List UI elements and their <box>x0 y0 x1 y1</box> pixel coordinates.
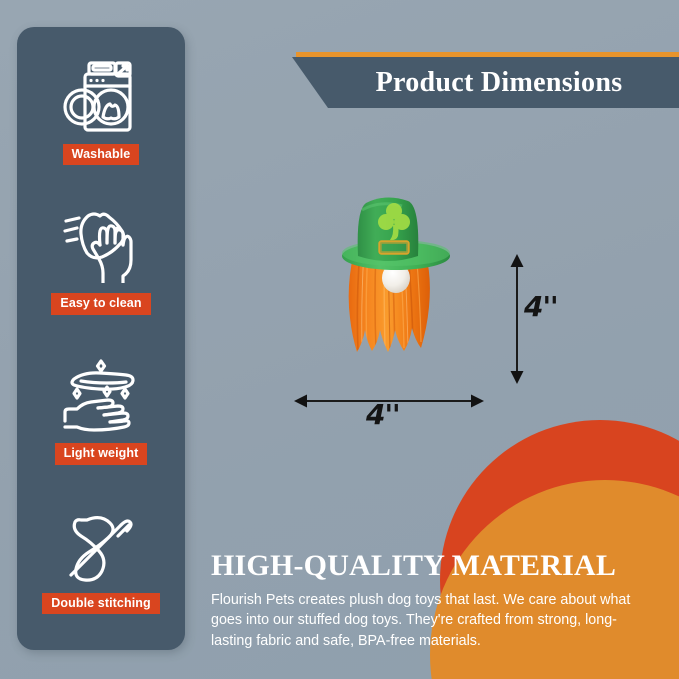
feature-badge-easy-to-clean: Easy to clean <box>51 293 150 315</box>
needle-and-thread-icon <box>62 508 140 584</box>
feather-on-hand-icon <box>62 358 140 434</box>
feature-badge-washable: Washable <box>63 144 140 166</box>
infographic-canvas: Washable Easy to clean <box>0 0 679 679</box>
hand-wiping-cloth-icon <box>62 208 140 284</box>
footer-heading: HIGH-QUALITY MATERIAL <box>211 551 663 581</box>
width-dimension-label: 4'' <box>366 398 400 431</box>
feature-easy-to-clean: Easy to clean <box>17 208 185 315</box>
height-dimension-label: 4'' <box>524 290 558 323</box>
washing-machine-icon <box>62 59 140 135</box>
page-title: Product Dimensions <box>292 57 679 108</box>
feature-washable: Washable <box>17 59 185 166</box>
feature-light-weight: Light weight <box>17 358 185 465</box>
footer-copy: HIGH-QUALITY MATERIAL Flourish Pets crea… <box>211 551 663 651</box>
feature-double-stitching: Double stitching <box>17 508 185 615</box>
feature-badge-double-stitching: Double stitching <box>42 593 160 615</box>
header-ribbon: Product Dimensions <box>292 52 679 108</box>
product-image <box>328 190 464 395</box>
footer-body: Flourish Pets creates plush dog toys tha… <box>211 590 641 651</box>
feature-badge-light-weight: Light weight <box>55 443 148 465</box>
features-panel: Washable Easy to clean <box>17 27 185 650</box>
